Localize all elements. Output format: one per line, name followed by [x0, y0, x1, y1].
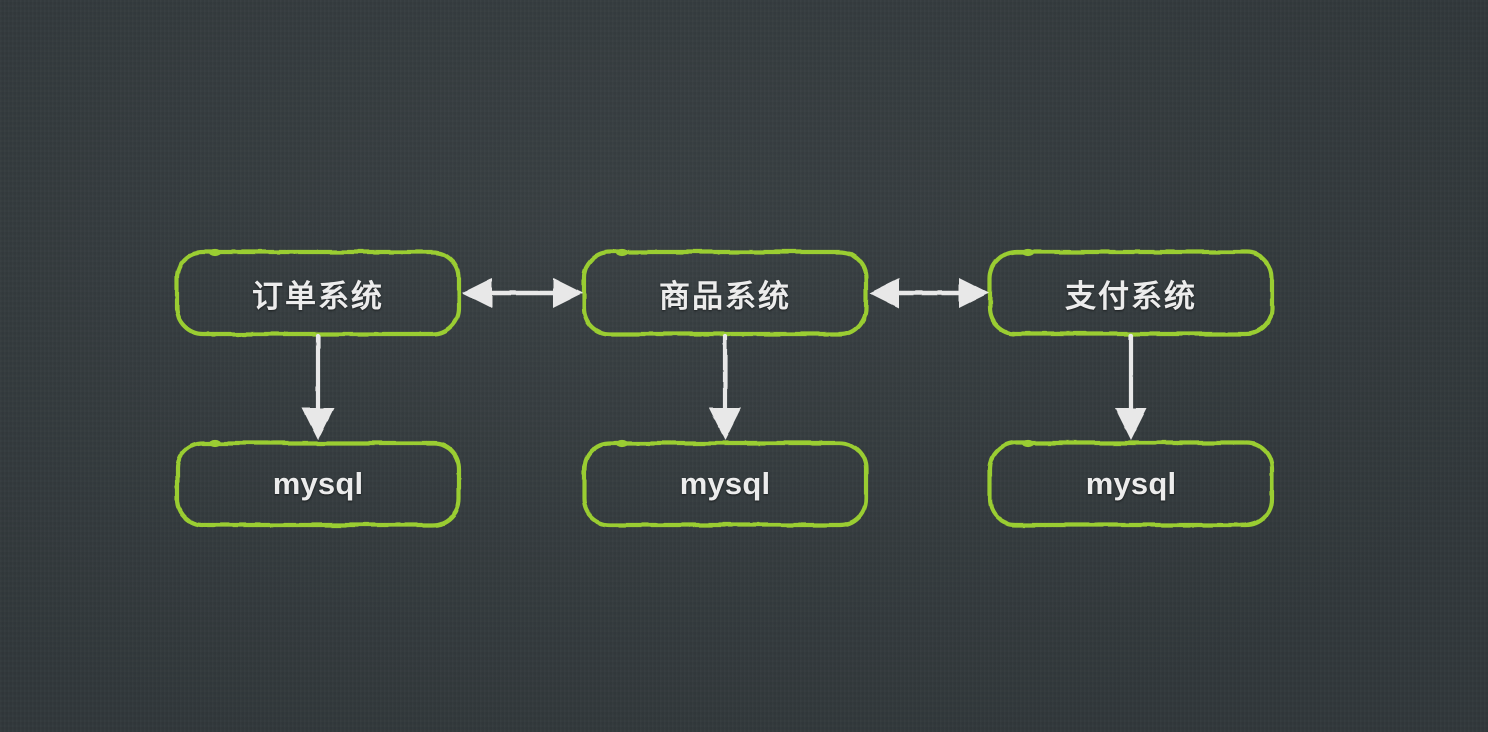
connector-order-product-link[interactable]	[462, 278, 583, 308]
node-label-order-db: mysql	[177, 443, 459, 525]
connector-product-db-link[interactable]	[709, 336, 741, 440]
node-label-product-system: 商品系统	[584, 252, 866, 334]
node-label-payment-db: mysql	[990, 443, 1272, 525]
node-label-order-system: 订单系统	[177, 252, 459, 334]
connector-product-payment-link[interactable]	[869, 278, 989, 308]
diagram-canvas: 订单系统 商品系统 支付系统 mysql mysql mysql	[0, 0, 1488, 732]
node-label-product-db: mysql	[584, 443, 866, 525]
node-label-payment-system: 支付系统	[990, 252, 1272, 334]
connector-payment-db-link[interactable]	[1115, 336, 1147, 440]
connector-order-db-link[interactable]	[302, 336, 334, 440]
diagram-svg	[0, 0, 1488, 732]
